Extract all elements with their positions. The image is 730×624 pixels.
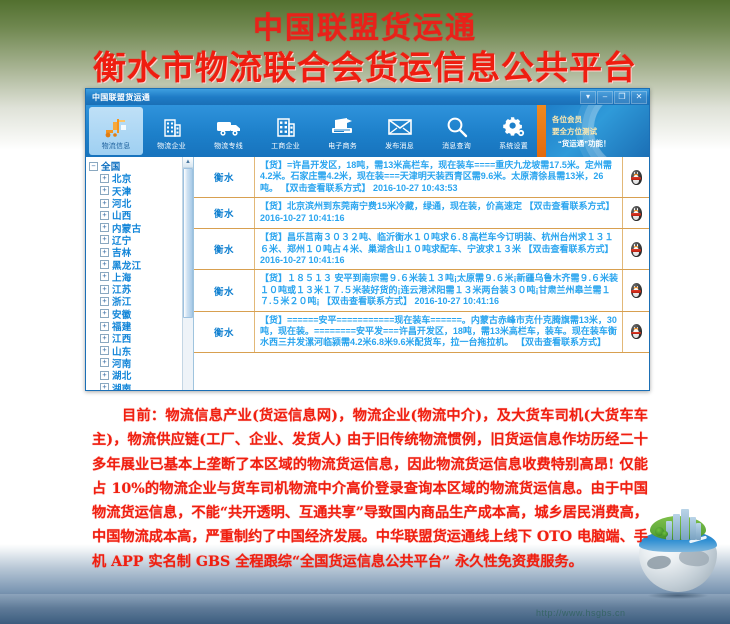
expand-toggle-icon[interactable]: + [100, 174, 109, 183]
main-toolbar: 物流信息 物流企业 物流专线 [86, 105, 649, 157]
window-controls: ▾ – ❐ ✕ [580, 89, 647, 105]
expand-toggle-icon[interactable]: + [100, 322, 109, 331]
tree-node-province[interactable]: +北京 [89, 172, 193, 184]
scroll-up-icon[interactable]: ▲ [183, 157, 193, 168]
qq-penguin-icon[interactable] [622, 270, 649, 310]
tree-node-nationwide[interactable]: − 全国 [89, 160, 193, 172]
banner-message: 各位会员 要全方位测试 “货运通”功能！ [546, 105, 649, 157]
expand-toggle-icon[interactable]: + [100, 297, 109, 306]
qq-penguin-icon[interactable] [622, 312, 649, 352]
scrollbar-thumb[interactable] [183, 168, 193, 318]
toolbar-item-logistics-info[interactable]: 物流信息 [89, 107, 143, 155]
table-row[interactable]: 衡水 【货】======安平===========现在装车======。内蒙古赤… [194, 312, 649, 353]
row-city: 衡水 [194, 157, 255, 197]
toolbar-label: 工商企业 [271, 141, 300, 151]
row-message[interactable]: 【货】昌乐莒南３０３２吨、临沂衡水１０吨求６.８高栏车今订明装、杭州台州求１３１… [255, 229, 622, 269]
freight-message-list: 衡水 【货】=许昌开发区，18吨，需13米高栏车，现在装车====重庆九龙坡需1… [194, 157, 649, 390]
toolbar-label: 电子商务 [328, 141, 357, 151]
globe-tree [662, 531, 668, 537]
region-tree-sidebar: − 全国 +北京 +天津 +河北 +山西 +内蒙古 +辽宁 +吉林 +黑龙江 +… [86, 157, 194, 390]
toolbar-label: 消息查询 [442, 141, 471, 151]
ecommerce-icon [329, 114, 357, 140]
toolbar-item-system-settings[interactable]: 系统设置 [485, 105, 542, 157]
table-row[interactable]: 衡水 【货】１８５１３ 安平到南宗需９.６米装１３吨¡太原需９.６米¡新疆乌鲁木… [194, 270, 649, 311]
paragraph-text: 目前：物流信息产业(货运信息网)，物流企业(物流中介)，及大货车司机(大货车车主… [92, 408, 648, 570]
forklift-icon [103, 114, 129, 140]
row-city: 衡水 [194, 270, 255, 310]
office-icon [274, 114, 298, 140]
globe-building [673, 514, 680, 540]
envelope-icon [387, 114, 413, 140]
qq-penguin-icon[interactable] [622, 198, 649, 228]
row-message[interactable]: 【货】北京滨州到东莞南宁费15米冷藏，绿通，现在装，价高速定 【双击查看联系方式… [255, 198, 622, 228]
banner-accent-bar [537, 105, 546, 157]
building-icon [160, 114, 184, 140]
tree-node-province[interactable]: +河南 [89, 357, 193, 369]
toolbar-item-industry-company[interactable]: 工商企业 [257, 105, 314, 157]
row-city: 衡水 [194, 312, 255, 352]
expand-toggle-icon[interactable]: + [100, 309, 109, 318]
bottom-caption: http://www.hsgbs.cn [536, 608, 726, 624]
expand-toggle-icon[interactable]: + [100, 248, 109, 257]
expand-toggle-icon[interactable]: + [100, 383, 109, 390]
page-headline: 中国联盟货运通 衡水市物流联合会货运信息公共平台 [0, 12, 730, 88]
tree-node-province[interactable]: +安徽 [89, 308, 193, 320]
tree-node-province[interactable]: +湖南 [89, 381, 193, 390]
toolbar-label: 物流企业 [157, 141, 186, 151]
tree-node-province[interactable]: +河北 [89, 197, 193, 209]
maximize-icon[interactable]: ❐ [614, 91, 630, 104]
table-row[interactable]: 衡水 【货】北京滨州到东莞南宁费15米冷藏，绿通，现在装，价高速定 【双击查看联… [194, 198, 649, 229]
row-city: 衡水 [194, 198, 255, 228]
qq-penguin-icon[interactable] [622, 157, 649, 197]
tree-node-province[interactable]: +上海 [89, 271, 193, 283]
qq-penguin-icon[interactable] [622, 229, 649, 269]
close-icon[interactable]: ✕ [631, 91, 647, 104]
promotional-paragraph: 目前：物流信息产业(货运信息网)，物流企业(物流中介)，及大货车司机(大货车车主… [92, 404, 648, 574]
expand-toggle-icon[interactable]: + [100, 285, 109, 294]
expand-toggle-icon[interactable]: + [100, 371, 109, 380]
window-title: 中国联盟货运通 [88, 92, 150, 103]
truck-icon [215, 114, 243, 140]
toolbar-notice-banner[interactable]: 各位会员 要全方位测试 “货运通”功能！ [537, 105, 649, 157]
row-city: 衡水 [194, 229, 255, 269]
globe-building [696, 523, 701, 540]
toolbar-item-message-search[interactable]: 消息查询 [428, 105, 485, 157]
expand-toggle-icon[interactable]: + [100, 358, 109, 367]
expand-toggle-icon[interactable]: + [100, 186, 109, 195]
menu-caret-icon[interactable]: ▾ [580, 91, 596, 104]
expand-toggle-icon[interactable]: + [100, 235, 109, 244]
toolbar-item-ecommerce[interactable]: 电子商务 [314, 105, 371, 157]
window-titlebar[interactable]: 中国联盟货运通 ▾ – ❐ ✕ [86, 89, 649, 105]
earth-city-globe-icon [637, 508, 721, 604]
headline-line-1: 中国联盟货运通 [0, 12, 730, 46]
table-row[interactable]: 衡水 【货】=许昌开发区，18吨，需13米高栏车，现在装车====重庆九龙坡需1… [194, 157, 649, 198]
collapse-toggle-icon[interactable]: − [89, 162, 98, 171]
tree-node-province[interactable]: +黑龙江 [89, 258, 193, 270]
expand-toggle-icon[interactable]: + [100, 334, 109, 343]
banner-line-1: 各位会员 [552, 114, 649, 125]
expand-toggle-icon[interactable]: + [100, 199, 109, 208]
tree-node-province[interactable]: +山东 [89, 344, 193, 356]
expand-toggle-icon[interactable]: + [100, 223, 109, 232]
tree-node-province[interactable]: +山西 [89, 209, 193, 221]
toolbar-label: 物流专线 [214, 141, 243, 151]
application-window: 中国联盟货运通 ▾ – ❐ ✕ 物流信息 [85, 88, 650, 391]
table-row[interactable]: 衡水 【货】昌乐莒南３０３２吨、临沂衡水１０吨求６.８高栏车今订明装、杭州台州求… [194, 229, 649, 270]
toolbar-label: 系统设置 [499, 141, 528, 151]
tree-node-province[interactable]: +辽宁 [89, 234, 193, 246]
search-icon [445, 114, 469, 140]
toolbar-item-publish-message[interactable]: 发布消息 [371, 105, 428, 157]
tree-node-province[interactable]: +江苏 [89, 283, 193, 295]
toolbar-label: 发布消息 [385, 141, 414, 151]
tree-node-province[interactable]: +内蒙古 [89, 221, 193, 233]
tree-node-province[interactable]: +福建 [89, 320, 193, 332]
expand-toggle-icon[interactable]: + [100, 272, 109, 281]
banner-line-3: “货运通”功能！ [552, 138, 649, 149]
globe-building [666, 521, 672, 540]
tree-node-province[interactable]: +吉林 [89, 246, 193, 258]
toolbar-item-logistics-line[interactable]: 物流专线 [200, 105, 257, 157]
expand-toggle-icon[interactable]: + [100, 211, 109, 220]
region-tree: − 全国 +北京 +天津 +河北 +山西 +内蒙古 +辽宁 +吉林 +黑龙江 +… [86, 157, 193, 390]
gear-icon [501, 114, 527, 140]
expand-toggle-icon[interactable]: + [100, 260, 109, 269]
tree-node-label: 湖南 [112, 381, 132, 391]
expand-toggle-icon[interactable]: + [100, 346, 109, 355]
tree-node-province[interactable]: +湖北 [89, 369, 193, 381]
globe-shadow [647, 592, 709, 599]
headline-line-2: 衡水市物流联合会货运信息公共平台 [0, 48, 730, 88]
toolbar-item-logistics-company[interactable]: 物流企业 [143, 105, 200, 157]
row-message[interactable]: 【货】======安平===========现在装车======。内蒙古赤峰市克… [255, 312, 622, 352]
globe-building [681, 509, 689, 540]
row-message[interactable]: 【货】１８５１３ 安平到南宗需９.６米装１３吨¡太原需９.６米¡新疆乌鲁木齐需９… [255, 270, 622, 310]
tree-node-province[interactable]: +浙江 [89, 295, 193, 307]
minimize-icon[interactable]: – [597, 91, 613, 104]
toolbar-label: 物流信息 [102, 141, 131, 151]
tree-node-province[interactable]: +天津 [89, 185, 193, 197]
row-message[interactable]: 【货】=许昌开发区，18吨，需13米高栏车，现在装车====重庆九龙坡需17.5… [255, 157, 622, 197]
sidebar-scrollbar[interactable]: ▲ [182, 157, 193, 390]
window-body: − 全国 +北京 +天津 +河北 +山西 +内蒙古 +辽宁 +吉林 +黑龙江 +… [86, 157, 649, 390]
tree-node-province[interactable]: +江西 [89, 332, 193, 344]
banner-line-2: 要全方位测试 [552, 126, 649, 137]
